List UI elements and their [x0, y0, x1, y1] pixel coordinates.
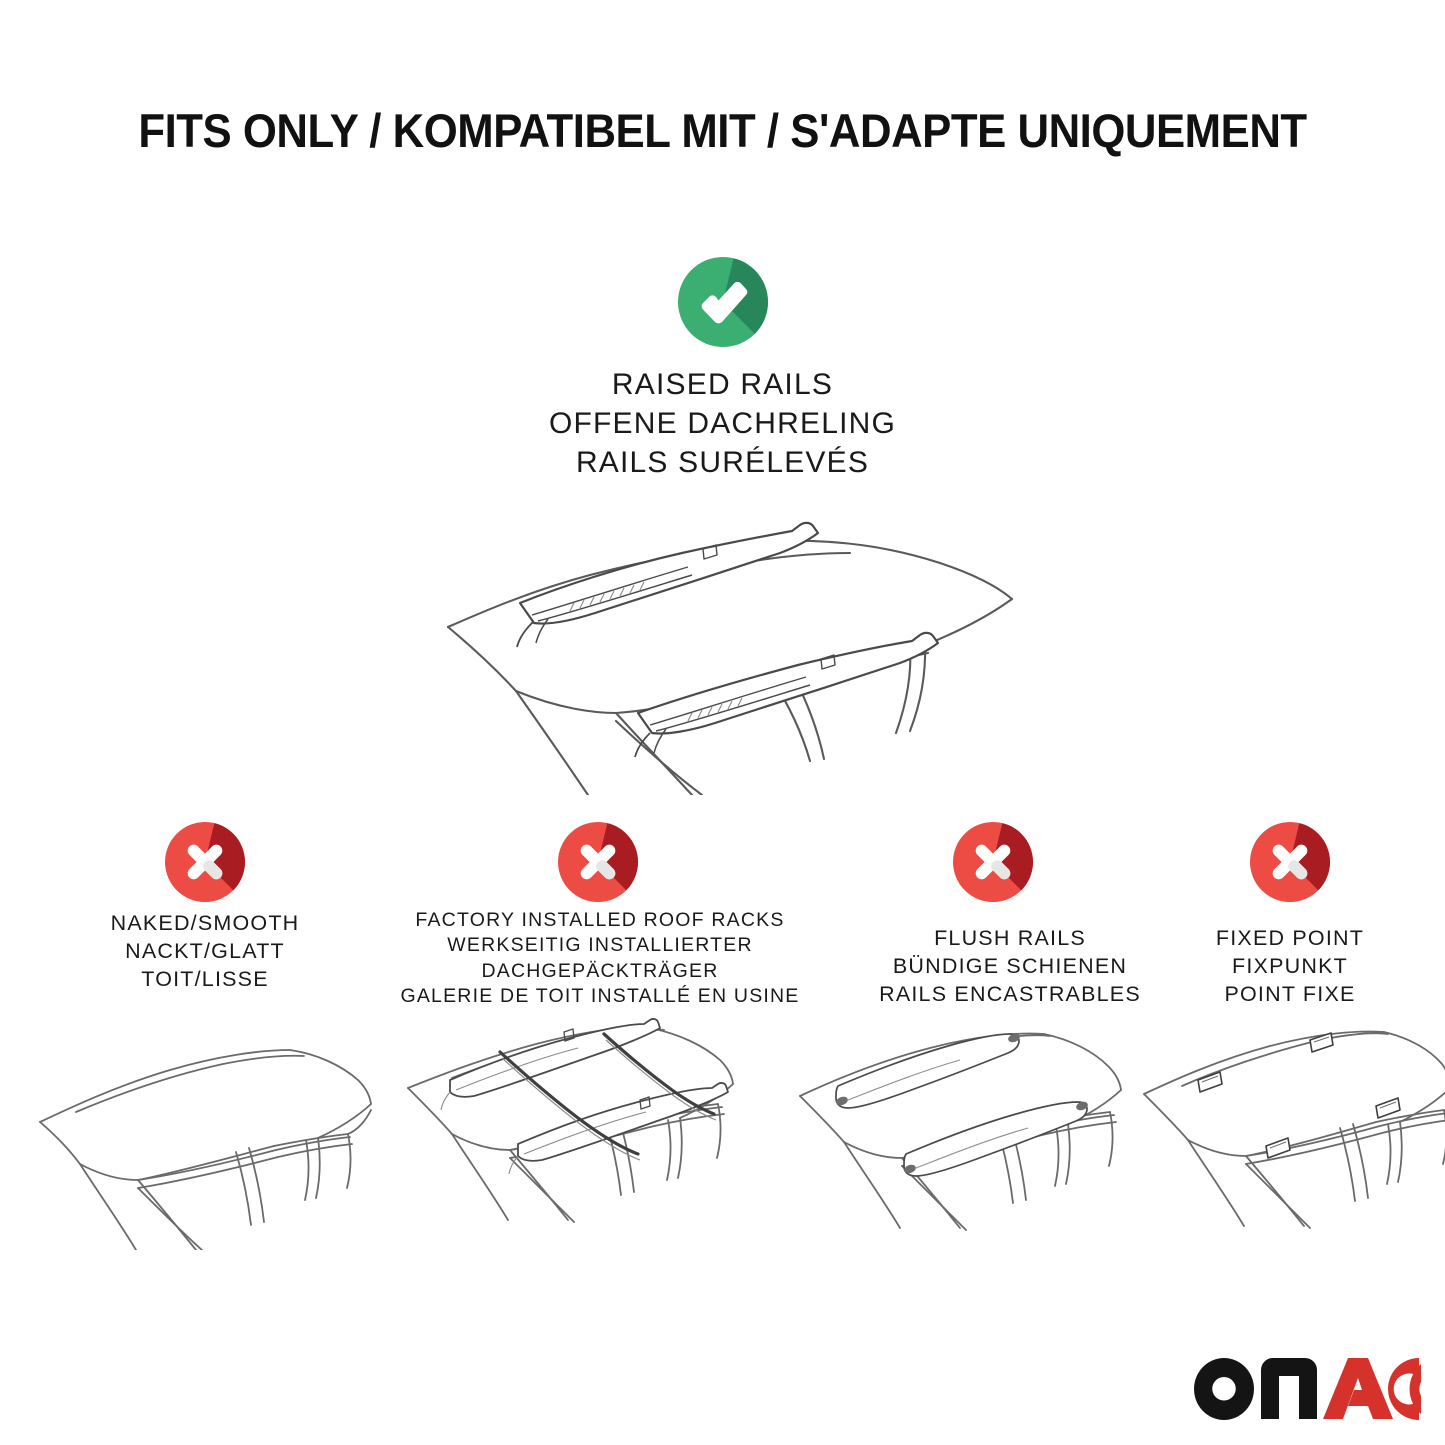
x-glyph [165, 822, 245, 902]
red-x-circle-icon-factory-racks [558, 822, 638, 902]
incompatible-line-3: TOIT/LISSE [40, 966, 370, 994]
x-glyph [558, 822, 638, 902]
incompatible-line-3: RAILS ENCASTRABLES [845, 981, 1175, 1009]
compatible-line-1: RAISED RAILS [0, 365, 1445, 404]
logo-letter-o [1194, 1358, 1254, 1420]
incompatible-line-3: POINT FIXE [1130, 981, 1445, 1009]
incompatible-caption-naked-smooth: NAKED/SMOOTH NACKT/GLATT TOIT/LISSE [40, 910, 370, 994]
car-roof-raised-rails-illustration [420, 495, 1030, 795]
incompatible-line-2: WERKSEITIG INSTALLIERTER [355, 933, 845, 958]
incompatible-line-4: GALERIE DE TOIT INSTALLÉ EN USINE [355, 984, 845, 1009]
incompatible-line-1: FLUSH RAILS [845, 925, 1175, 953]
logo-letter-a [1323, 1358, 1393, 1419]
x-glyph [1250, 822, 1330, 902]
car-roof-naked-smooth-illustration [18, 1020, 386, 1250]
incompatible-line-2: FIXPUNKT [1130, 953, 1445, 981]
incompatible-line-1: NAKED/SMOOTH [40, 910, 370, 938]
check-glyph [678, 257, 768, 347]
compatible-line-2: OFFENE DACHRELING [0, 404, 1445, 443]
incompatible-line-3: DACHGEPÄCKTRÄGER [355, 959, 845, 984]
car-roof-flush-rails-illustration [772, 1018, 1142, 1250]
x-glyph [953, 822, 1033, 902]
infographic-root: FITS ONLY / KOMPATIBEL MIT / S'ADAPTE UN… [0, 0, 1445, 1445]
incompatible-caption-flush-rails: FLUSH RAILS BÜNDIGE SCHIENEN RAILS ENCAS… [845, 925, 1175, 1009]
logo-letter-m [1261, 1358, 1317, 1419]
red-x-circle-icon-fixed-point [1250, 822, 1330, 902]
omac-logo [1193, 1356, 1421, 1420]
red-x-circle-icon-naked-smooth [165, 822, 245, 902]
incompatible-line-1: FIXED POINT [1130, 925, 1445, 953]
red-x-circle-icon-flush-rails [953, 822, 1033, 902]
compatible-caption: RAISED RAILS OFFENE DACHRELING RAILS SUR… [0, 365, 1445, 482]
incompatible-line-1: FACTORY INSTALLED ROOF RACKS [355, 908, 845, 933]
car-roof-fixed-point-illustration [1132, 1018, 1445, 1250]
compatible-line-3: RAILS SURÉLEVÉS [0, 443, 1445, 482]
omac-logo-mark [1193, 1356, 1421, 1420]
incompatible-caption-fixed-point: FIXED POINT FIXPUNKT POINT FIXE [1130, 925, 1445, 1009]
car-roof-factory-roof-racks-illustration [392, 1018, 764, 1250]
page-title: FITS ONLY / KOMPATIBEL MIT / S'ADAPTE UN… [51, 103, 1395, 158]
incompatible-line-2: BÜNDIGE SCHIENEN [845, 953, 1175, 981]
incompatible-caption-factory-racks: FACTORY INSTALLED ROOF RACKS WERKSEITIG … [355, 908, 845, 1009]
green-check-circle-icon [678, 257, 768, 347]
incompatible-line-2: NACKT/GLATT [40, 938, 370, 966]
